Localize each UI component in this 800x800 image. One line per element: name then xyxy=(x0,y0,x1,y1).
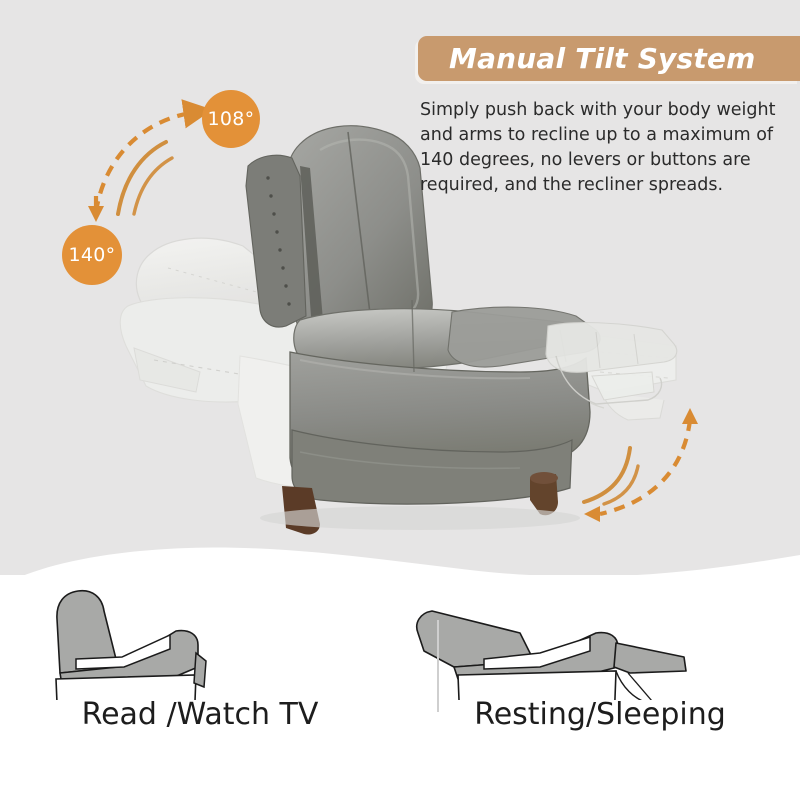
mode-read-watch-tv: Read /Watch TV xyxy=(0,575,400,800)
top-background-panel xyxy=(0,0,800,600)
angle-badge-upright-label: 108° xyxy=(208,108,255,130)
angle-badge-upright: 108° xyxy=(202,90,260,148)
mode-resting-sleeping: Resting/Sleeping xyxy=(400,575,800,800)
reclined-recliner-icon xyxy=(400,575,800,695)
modes-section: Read /Watch TV xyxy=(0,575,800,800)
description-text: Simply push back with your body weight a… xyxy=(420,98,788,198)
modes-divider xyxy=(437,620,439,712)
angle-badge-reclined: 140° xyxy=(62,225,122,285)
banner-title: Manual Tilt System xyxy=(449,42,756,75)
infographic-canvas: 108° 140° Manual Tilt System Simply push… xyxy=(0,0,800,800)
mode-label-resting-sleeping: Resting/Sleeping xyxy=(400,697,800,732)
upright-recliner-icon xyxy=(0,575,400,695)
header-banner: Manual Tilt System xyxy=(418,36,800,81)
angle-badge-reclined-label: 140° xyxy=(69,244,116,266)
mode-label-read-watch-tv: Read /Watch TV xyxy=(0,697,400,732)
